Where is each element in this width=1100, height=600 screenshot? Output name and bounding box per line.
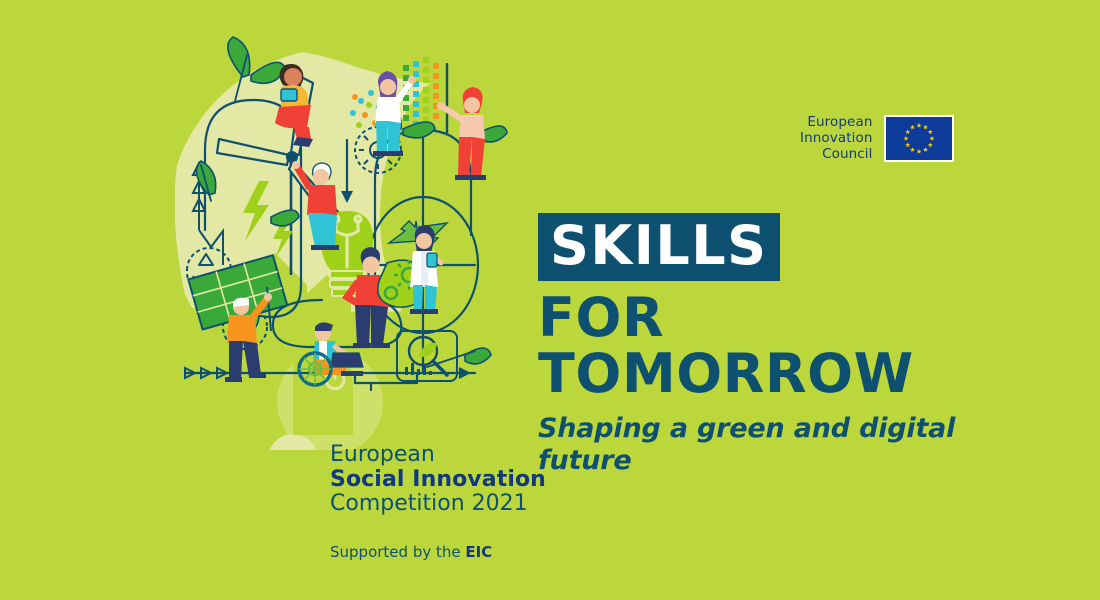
supported-eic: EIC [465,543,492,561]
competition-line-3: Competition 2021 [330,492,630,517]
eu-star-icon [924,147,929,152]
eu-star-icon [904,135,909,140]
supported-by-line: Supported by the EIC [330,543,630,561]
supported-prefix: Supported by the [330,543,465,561]
eu-star-icon [906,129,911,134]
illustration-artwork [175,35,525,450]
eu-star-icon [928,142,933,147]
eic-logo: European Innovation Council [800,114,954,162]
eic-line-3: Council [800,146,872,162]
competition-line-1: European [330,443,630,468]
eu-star-icon [928,129,933,134]
competition-line-2: Social Innovation [330,468,630,493]
eic-line-2: Innovation [800,130,872,146]
eu-star-icon [917,148,922,153]
eic-line-1: European [800,114,872,130]
headline-skills: SKILLS [538,213,780,281]
headline-block: SKILLS FOR TOMORROW Shaping a green and … [538,213,1018,477]
eu-star-icon [906,142,911,147]
poster-canvas: European Innovation Council SKILLS FOR T… [0,0,1100,600]
eu-star-icon [911,124,916,129]
eic-logo-text: European Innovation Council [800,114,872,162]
headline-for-tomorrow: FOR TOMORROW [538,290,1018,402]
eu-star-icon [924,124,929,129]
eu-star-icon [917,122,922,127]
european-union-flag [884,115,954,162]
eu-star-icon [911,147,916,152]
eu-star-icon [930,135,935,140]
competition-block: European Social Innovation Competition 2… [330,443,630,561]
